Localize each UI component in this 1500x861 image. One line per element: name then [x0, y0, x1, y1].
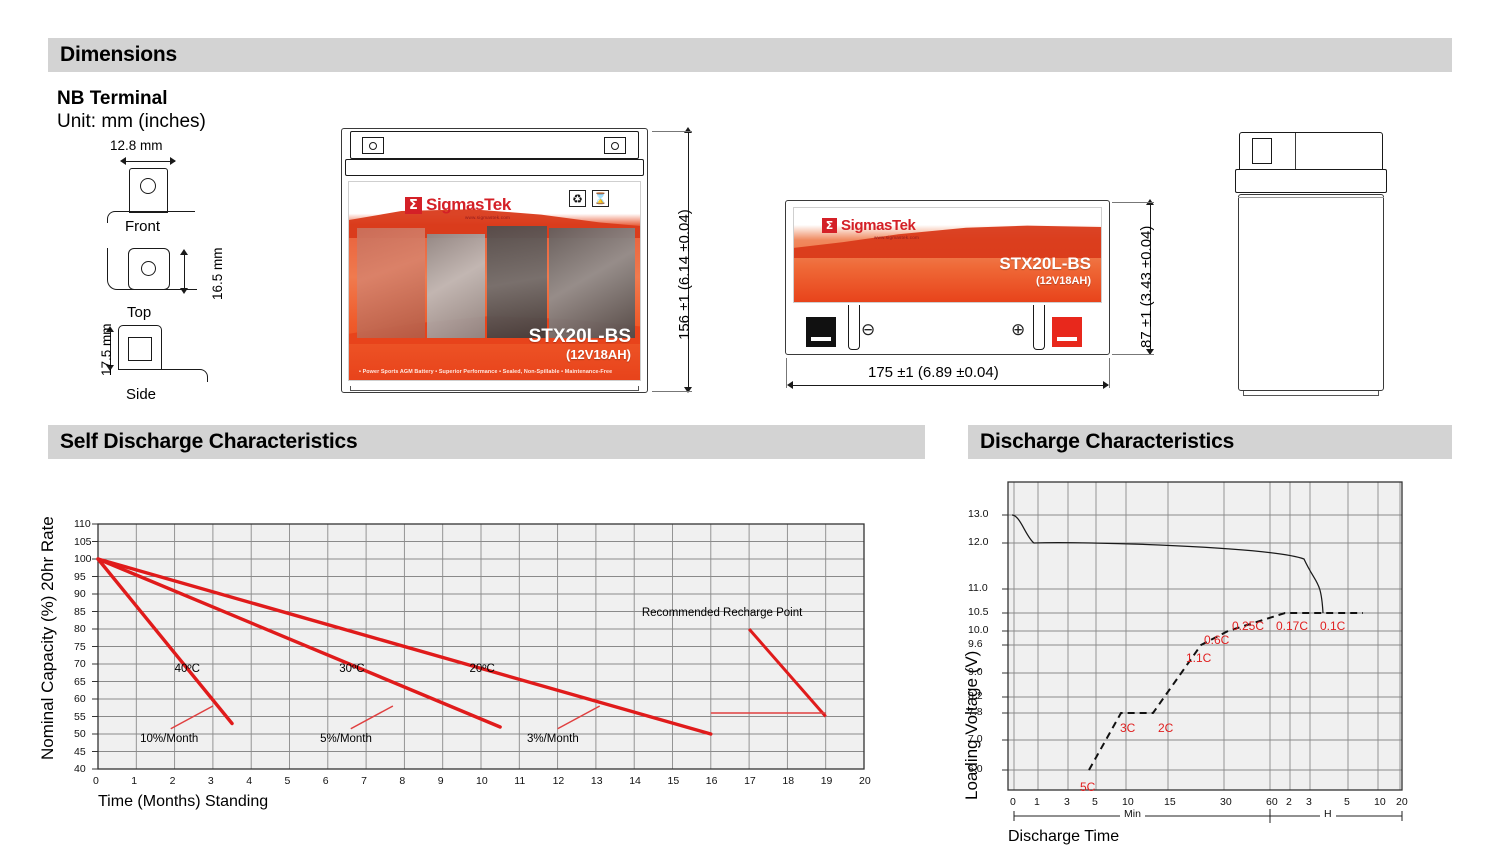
- curve-label: 0.25C: [1232, 619, 1264, 633]
- x-tick: 1: [131, 775, 137, 787]
- y-tick: 7.8: [968, 706, 983, 718]
- x-tick-hour: 3: [1306, 796, 1312, 808]
- x-tick: 20: [859, 775, 871, 787]
- x-tick-min: 5: [1092, 796, 1098, 808]
- x-tick: 18: [782, 775, 794, 787]
- y-tick: 12.0: [968, 536, 988, 548]
- x-tick-min: 30: [1220, 796, 1232, 808]
- x-tick: 16: [706, 775, 718, 787]
- y-tick: 55: [74, 711, 86, 723]
- y-tick: 50: [74, 728, 86, 740]
- y-tick: 85: [74, 606, 86, 618]
- y-tick: 9.6: [968, 638, 983, 650]
- y-tick: 9.0: [968, 666, 983, 678]
- x-tick-hour: 20: [1396, 796, 1408, 808]
- y-tick: 100: [74, 553, 92, 565]
- y-tick: 40: [74, 763, 86, 775]
- x-tick: 7: [361, 775, 367, 787]
- x-tick: 10: [476, 775, 488, 787]
- x-tick: 8: [399, 775, 405, 787]
- x-tick-min: 10: [1122, 796, 1134, 808]
- self-discharge-chart: Nominal Capacity (%) 20hr Rate Time (Mon…: [0, 0, 900, 861]
- x-tick: 5: [285, 775, 291, 787]
- y-tick: 10.5: [968, 606, 988, 618]
- y-tick: 10.0: [968, 624, 988, 636]
- curve-label: 0.1C: [1320, 619, 1345, 633]
- discharge-chart: Loading Voltage (V) Discharge Time 13.01…: [940, 0, 1500, 861]
- axis-group-hour-label: H: [1320, 808, 1336, 820]
- x-tick: 11: [514, 775, 525, 787]
- y-tick: 7.0: [968, 733, 983, 745]
- curve-label: 3C: [1120, 721, 1135, 735]
- chart-annotation: 5%/Month: [320, 733, 372, 745]
- x-tick: 12: [553, 775, 565, 787]
- x-tick-min: 60: [1266, 796, 1278, 808]
- y-tick: 45: [74, 746, 86, 758]
- curve-label: 5C: [1080, 780, 1095, 794]
- chart-annotation: 3%/Month: [527, 733, 579, 745]
- x-tick: 19: [821, 775, 833, 787]
- self-discharge-plot: [0, 0, 900, 861]
- y-tick: 65: [74, 676, 86, 688]
- y-tick: 6.0: [968, 763, 983, 775]
- x-tick-min: 1: [1034, 796, 1040, 808]
- x-tick: 15: [668, 775, 680, 787]
- y-tick: 80: [74, 623, 86, 635]
- chart-annotation: Recommended Recharge Point: [642, 607, 802, 619]
- chart-annotation: 10%/Month: [140, 733, 198, 745]
- x-tick: 6: [323, 775, 329, 787]
- y-tick: 60: [74, 693, 86, 705]
- y-tick: 13.0: [968, 508, 988, 520]
- chart-annotation: 40ºC: [175, 663, 200, 675]
- x-tick-hour: 5: [1344, 796, 1350, 808]
- x-tick: 17: [744, 775, 756, 787]
- chart-annotation: 30ºC: [339, 663, 364, 675]
- y-tick: 8.2: [968, 690, 983, 702]
- axis-group-min-label: Min: [1120, 808, 1145, 820]
- y-tick: 75: [74, 641, 86, 653]
- x-tick: 4: [246, 775, 252, 787]
- curve-label: 0.6C: [1204, 633, 1229, 647]
- x-tick-min: 3: [1064, 796, 1070, 808]
- y-tick: 95: [74, 571, 86, 583]
- curve-label: 0.17C: [1276, 619, 1308, 633]
- x-tick-hour: 2: [1286, 796, 1292, 808]
- x-tick: 9: [438, 775, 444, 787]
- x-tick: 14: [629, 775, 641, 787]
- discharge-plot: [940, 0, 1500, 861]
- y-tick: 105: [74, 536, 92, 548]
- y-tick: 90: [74, 588, 86, 600]
- curve-label: 1.1C: [1186, 651, 1211, 665]
- x-tick: 0: [93, 775, 99, 787]
- y-tick: 11.0: [968, 582, 988, 594]
- chart-annotation: 20ºC: [470, 663, 495, 675]
- x-tick-min: 0: [1010, 796, 1016, 808]
- y-tick: 70: [74, 658, 86, 670]
- x-tick: 3: [208, 775, 214, 787]
- x-tick: 2: [170, 775, 176, 787]
- y-tick: 110: [74, 518, 91, 530]
- x-tick-min: 15: [1164, 796, 1176, 808]
- x-tick: 13: [591, 775, 603, 787]
- x-tick-hour: 10: [1374, 796, 1386, 808]
- curve-label: 2C: [1158, 721, 1173, 735]
